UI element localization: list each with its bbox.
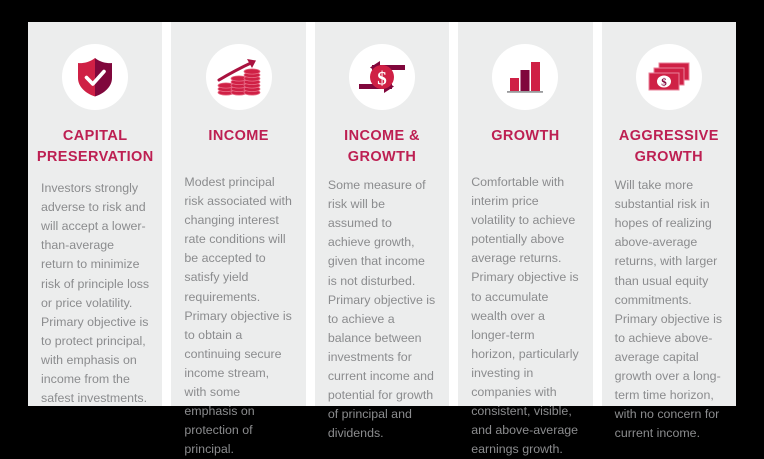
column-title: INCOME: [208, 126, 268, 147]
graphic-frame: CAPITAL PRESERVATION Investors strongly …: [0, 0, 764, 430]
column-title: AGGRESSIVE GROWTH: [615, 126, 723, 168]
dollar-coin-arrows-icon: $: [356, 57, 408, 97]
column-description: Comfortable with interim price volatilit…: [471, 173, 579, 459]
banknotes-dollar-icon: $: [645, 58, 693, 96]
risk-column-growth: GROWTH Comfortable with interim price vo…: [458, 22, 592, 406]
svg-text:$: $: [377, 69, 387, 90]
icon-badge-capital-preservation: [62, 44, 128, 110]
column-title: CAPITAL PRESERVATION: [37, 126, 154, 168]
shield-check-icon: [75, 56, 115, 98]
risk-column-aggressive-growth: $ AGGRESSIVE GROWTH Will take more subst…: [602, 22, 736, 406]
icon-badge-income-growth: $: [349, 44, 415, 110]
icon-badge-growth: [492, 44, 558, 110]
risk-column-income: INCOME Modest principal risk associated …: [171, 22, 305, 406]
svg-text:$: $: [661, 77, 667, 89]
bar-chart-icon: [504, 58, 546, 96]
column-description: Some measure of risk will be assumed to …: [328, 176, 436, 443]
column-title: INCOME & GROWTH: [328, 126, 436, 168]
icon-badge-income: [206, 44, 272, 110]
icon-badge-aggressive-growth: $: [636, 44, 702, 110]
column-title: GROWTH: [491, 126, 559, 147]
risk-column-capital-preservation: CAPITAL PRESERVATION Investors strongly …: [28, 22, 162, 406]
column-description: Will take more substantial risk in hopes…: [615, 176, 723, 443]
risk-tolerance-panel: CAPITAL PRESERVATION Investors strongly …: [28, 22, 736, 406]
column-description: Investors strongly adverse to risk and w…: [41, 179, 149, 408]
column-description: Modest principal risk associated with ch…: [184, 173, 292, 459]
coin-stacks-growth-icon: [216, 56, 262, 98]
risk-column-income-growth: $ INCOME & GROWTH Some measure of risk w…: [315, 22, 449, 406]
